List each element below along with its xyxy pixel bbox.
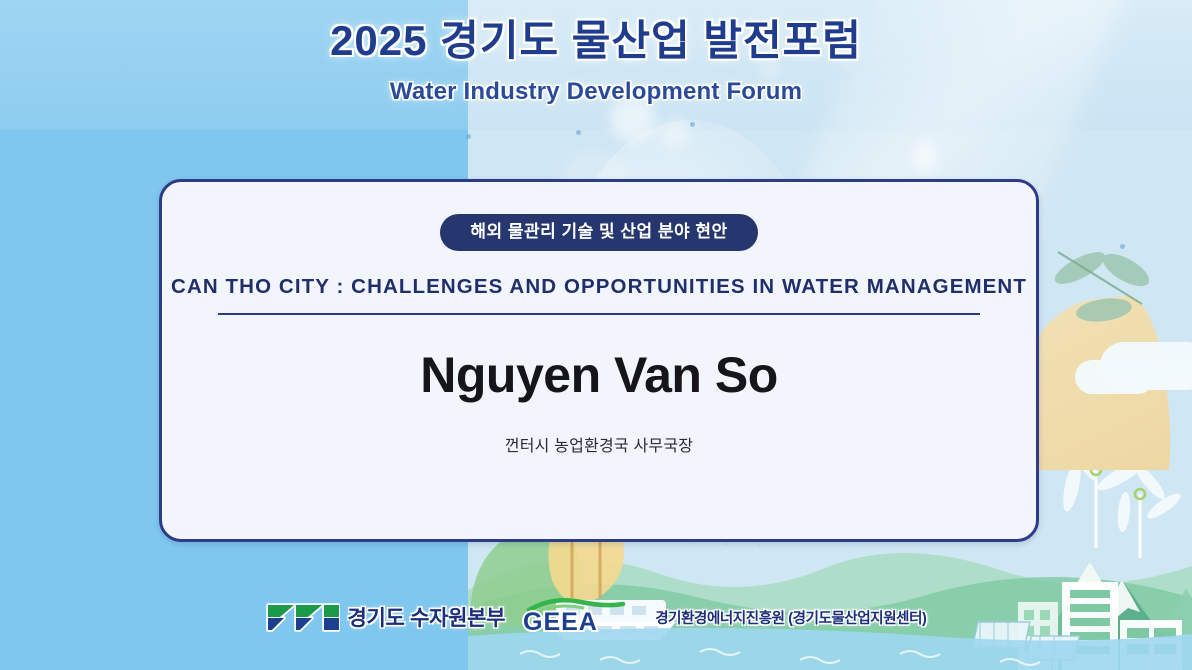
forum-title-korean: 2025 경기도 물산업 발전포럼 — [0, 18, 1192, 64]
session-title: CAN THO CITY : CHALLENGES AND OPPORTUNIT… — [162, 275, 1036, 299]
logo-gyeonggi-do: 경기도 수자원본부 — [266, 601, 506, 633]
cloud-shape — [1140, 358, 1192, 388]
geea-logo-mark: GEEA — [519, 598, 647, 636]
footer-logos: 경기도 수자원본부 GEEA 경기환경에너지진흥원 (경기도물산업지원센터) — [0, 598, 1192, 636]
dot-decoration — [690, 122, 695, 127]
forum-title-english: Water Industry Development Forum — [0, 78, 1192, 106]
slide-header: 2025 경기도 물산업 발전포럼 Water Industry Develop… — [0, 18, 1192, 106]
speaker-affiliation: 껀터시 농업환경국 사무국장 — [162, 432, 1036, 456]
dot-decoration — [576, 130, 581, 135]
bokeh-circle — [660, 118, 690, 148]
leaf-sprig-icon — [1046, 238, 1186, 348]
gyeonggi-do-logo-label: 경기도 수자원본부 — [348, 602, 506, 632]
title-divider — [218, 313, 980, 315]
geea-logo-label: 경기환경에너지진흥원 (경기도물산업지원센터) — [655, 607, 926, 628]
dot-decoration — [466, 134, 471, 139]
speaker-card: 해외 물관리 기술 및 산업 분야 현안 CAN THO CITY : CHAL… — [159, 179, 1039, 542]
slide-canvas: 2025 경기도 물산업 발전포럼 Water Industry Develop… — [0, 0, 1192, 670]
geea-wordmark: GEEA — [523, 608, 598, 636]
session-category-badge: 해외 물관리 기술 및 산업 분야 현안 — [440, 214, 757, 251]
speaker-name: Nguyen Van So — [162, 349, 1036, 402]
logo-geea: GEEA 경기환경에너지진흥원 (경기도물산업지원센터) — [519, 598, 926, 636]
water-droplet-icon — [912, 140, 938, 172]
gyeonggi-do-logo-mark — [266, 601, 340, 633]
